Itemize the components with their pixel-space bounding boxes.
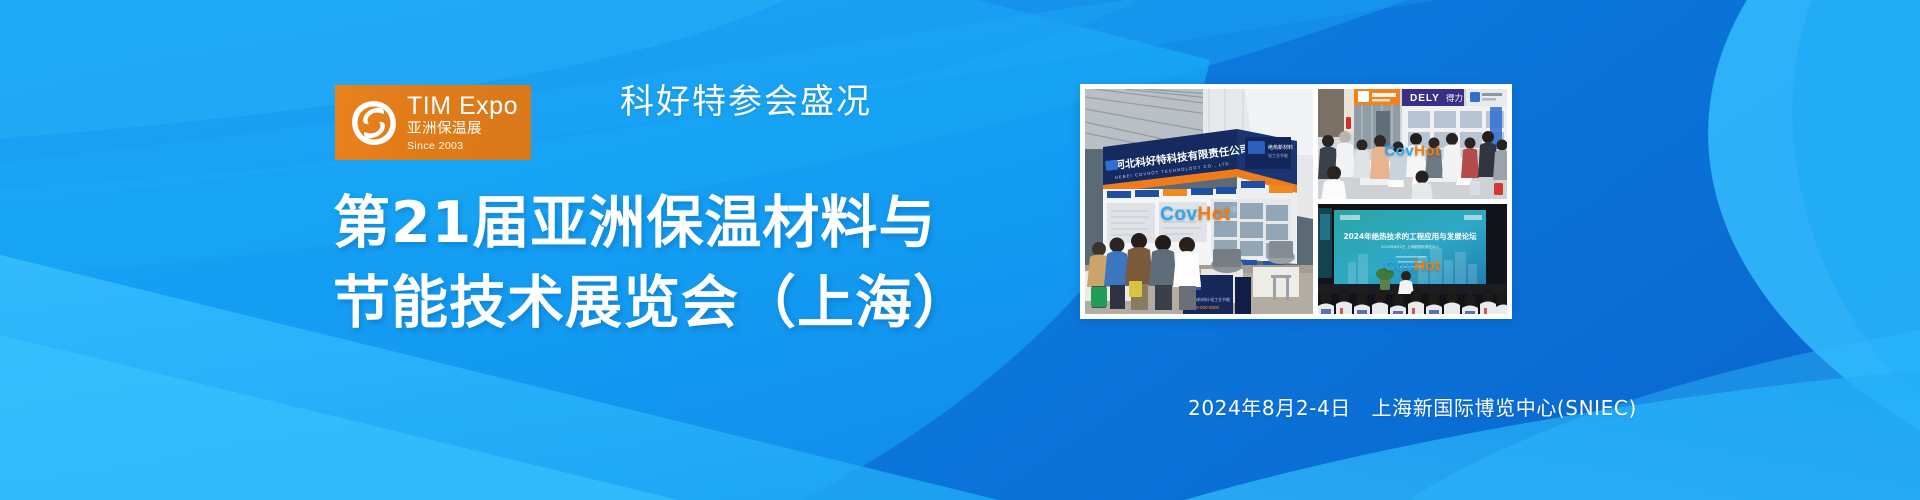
banner-content: TIM Expo 亚洲保温展 Since 2003 科好特参会盛况 第21届亚洲… bbox=[0, 0, 1060, 500]
swirl-circle-icon bbox=[347, 96, 401, 150]
headline-line-1: 第21届亚洲保温材料与 bbox=[333, 183, 971, 263]
forum-photo: 2024年绝热技术的工程应用与发展论坛 2024年8月2日 上海新国际博览中心 bbox=[1318, 204, 1507, 314]
svg-text:2024年8月2日 上海新国际博览中心: 2024年8月2日 上海新国际博览中心 bbox=[1381, 244, 1439, 249]
tim-expo-logo: TIM Expo 亚洲保温展 Since 2003 bbox=[335, 85, 531, 160]
expo-banner: TIM Expo 亚洲保温展 Since 2003 科好特参会盛况 第21届亚洲… bbox=[0, 0, 1920, 500]
headline-line-2: 节能技术展览会（上海） bbox=[333, 263, 971, 343]
svg-text:绝热新材料: 绝热新材料 bbox=[1268, 144, 1293, 151]
logo-since-text: Since 2003 bbox=[407, 141, 518, 152]
photo-collage: 河北科好特科技有限责任公司 HEBEI COVHOT TECHNOLOGY CO… bbox=[1080, 84, 1512, 250]
page-title: 第21届亚洲保温材料与 节能技术展览会（上海） bbox=[333, 183, 971, 343]
logo-chinese-name: 亚洲保温展 bbox=[407, 122, 518, 137]
date-venue-text: 2024年8月2-4日 上海新国际博览中心(SNIEC) bbox=[1188, 392, 1637, 421]
right-photo-column: DELY 得力 bbox=[1318, 89, 1507, 314]
collage-frame: 河北科好特科技有限责任公司 HEBEI COVHOT TECHNOLOGY CO… bbox=[1080, 84, 1512, 319]
booth-photo: 河北科好特科技有限责任公司 HEBEI COVHOT TECHNOLOGY CO… bbox=[1085, 89, 1313, 314]
svg-text:轻工业节能: 轻工业节能 bbox=[1268, 152, 1288, 158]
svg-text:DELY: DELY bbox=[1410, 93, 1440, 104]
svg-text:2024年绝热技术的工程应用与发展论坛: 2024年绝热技术的工程应用与发展论坛 bbox=[1343, 231, 1477, 241]
hall-photo: DELY 得力 bbox=[1318, 89, 1507, 199]
svg-text:得力: 得力 bbox=[1446, 93, 1463, 104]
logo-title: TIM Expo bbox=[407, 94, 518, 119]
subtitle-text: 科好特参会盛况 bbox=[620, 74, 872, 123]
